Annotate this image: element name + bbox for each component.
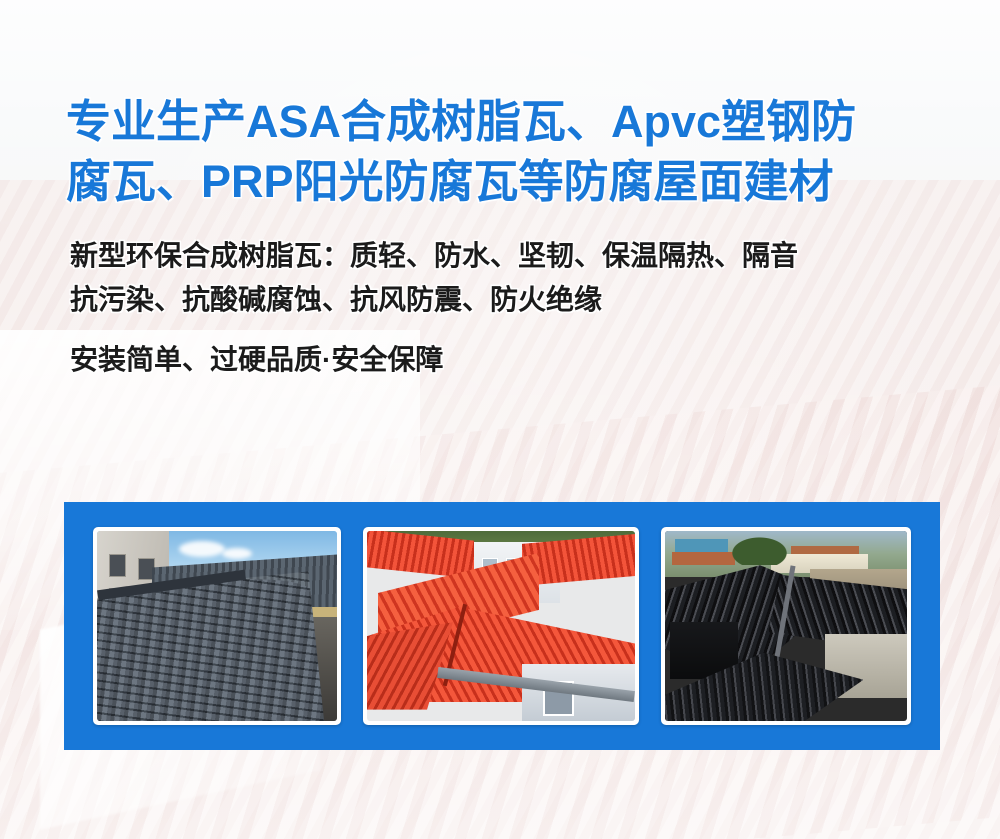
feature-line-2: 抗污染、抗酸碱腐蚀、抗风防震、防火绝缘 <box>70 278 1000 322</box>
photo2-roof-upper-left <box>367 531 474 578</box>
photo2-roof-upper-right <box>522 534 635 586</box>
photo1-cloud <box>222 548 252 559</box>
photo1-window <box>109 554 126 577</box>
photo-gallery <box>64 502 940 750</box>
headline: 专业生产ASA合成树脂瓦、Apvc塑钢防 腐瓦、PRP阳光防腐瓦等防腐屋面建材 <box>0 0 1000 212</box>
photo-frame-2[interactable] <box>363 527 639 725</box>
photo3-orange-building <box>672 552 735 565</box>
feature-line-1: 新型环保合成树脂瓦：质轻、防水、坚韧、保温隔热、隔音 <box>70 234 1000 278</box>
red-resin-tile-roof-photo <box>367 531 635 721</box>
headline-line-1: 专业生产ASA合成树脂瓦、Apvc塑钢防 <box>66 92 938 152</box>
banner-content: 专业生产ASA合成树脂瓦、Apvc塑钢防 腐瓦、PRP阳光防腐瓦等防腐屋面建材 … <box>0 0 1000 382</box>
photo1-cloud <box>179 541 225 557</box>
headline-line-2: 腐瓦、PRP阳光防腐瓦等防腐屋面建材 <box>66 152 938 212</box>
photo-frame-1[interactable] <box>93 527 341 725</box>
photo3-trees <box>728 535 791 565</box>
feature-line-3: 安装简单、过硬品质·安全保障 <box>70 338 1000 382</box>
feature-list: 新型环保合成树脂瓦：质轻、防水、坚韧、保温隔热、隔音 抗污染、抗酸碱腐蚀、抗风防… <box>0 212 1000 382</box>
photo-frame-3[interactable] <box>661 527 911 725</box>
product-promo-banner: 专业生产ASA合成树脂瓦、Apvc塑钢防 腐瓦、PRP阳光防腐瓦等防腐屋面建材 … <box>0 0 1000 839</box>
grey-resin-tile-roof-photo <box>97 531 337 721</box>
dark-resin-tile-roof-photo <box>665 531 907 721</box>
